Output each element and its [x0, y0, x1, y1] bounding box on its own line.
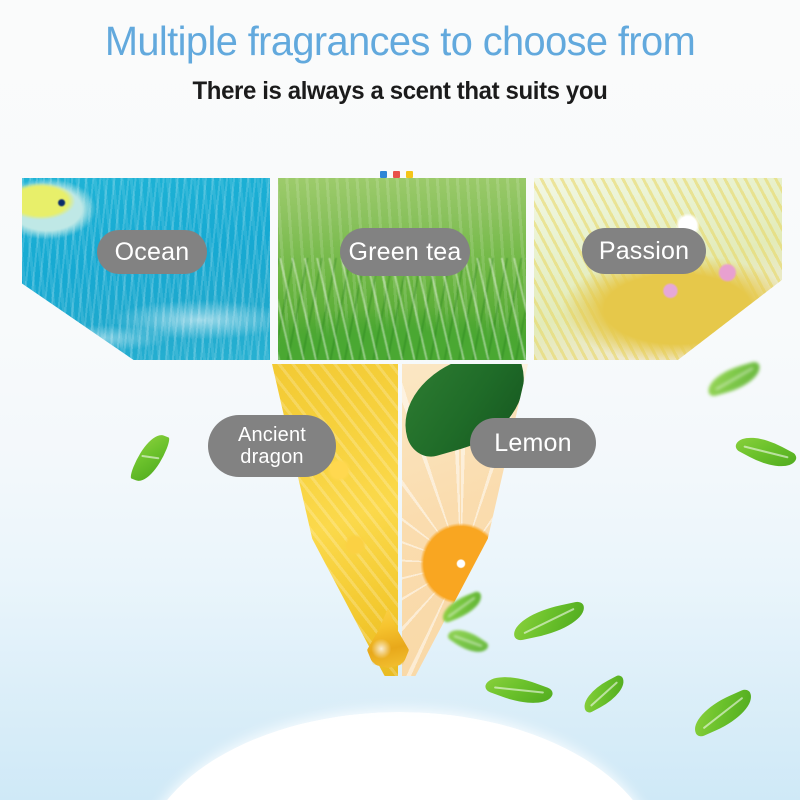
promo-banner: Multiple fragrances to choose from There… — [0, 0, 800, 800]
white-dome-base — [140, 712, 660, 800]
fish-icon — [22, 178, 100, 248]
dot-red-icon — [393, 171, 400, 178]
fragrance-label-ancient-dragon[interactable]: Ancient dragon — [208, 415, 336, 477]
leaf-icon — [688, 688, 759, 739]
fragrance-label-lemon[interactable]: Lemon — [470, 418, 596, 468]
page-subtitle: There is always a scent that suits you — [16, 77, 784, 106]
fragrance-label-green-tea[interactable]: Green tea — [340, 228, 470, 276]
fragrance-label-ocean[interactable]: Ocean — [97, 230, 207, 274]
dot-yellow-icon — [406, 171, 413, 178]
dot-blue-icon — [380, 171, 387, 178]
leaf-icon — [578, 674, 630, 714]
page-title: Multiple fragrances to choose from — [12, 0, 788, 63]
osmanthus-image — [130, 364, 398, 676]
header: Multiple fragrances to choose from There… — [0, 0, 800, 106]
fragrance-label-passion[interactable]: Passion — [582, 228, 706, 274]
decorative-dots — [380, 171, 413, 178]
fragrance-tile-ancient-dragon[interactable] — [130, 364, 398, 676]
